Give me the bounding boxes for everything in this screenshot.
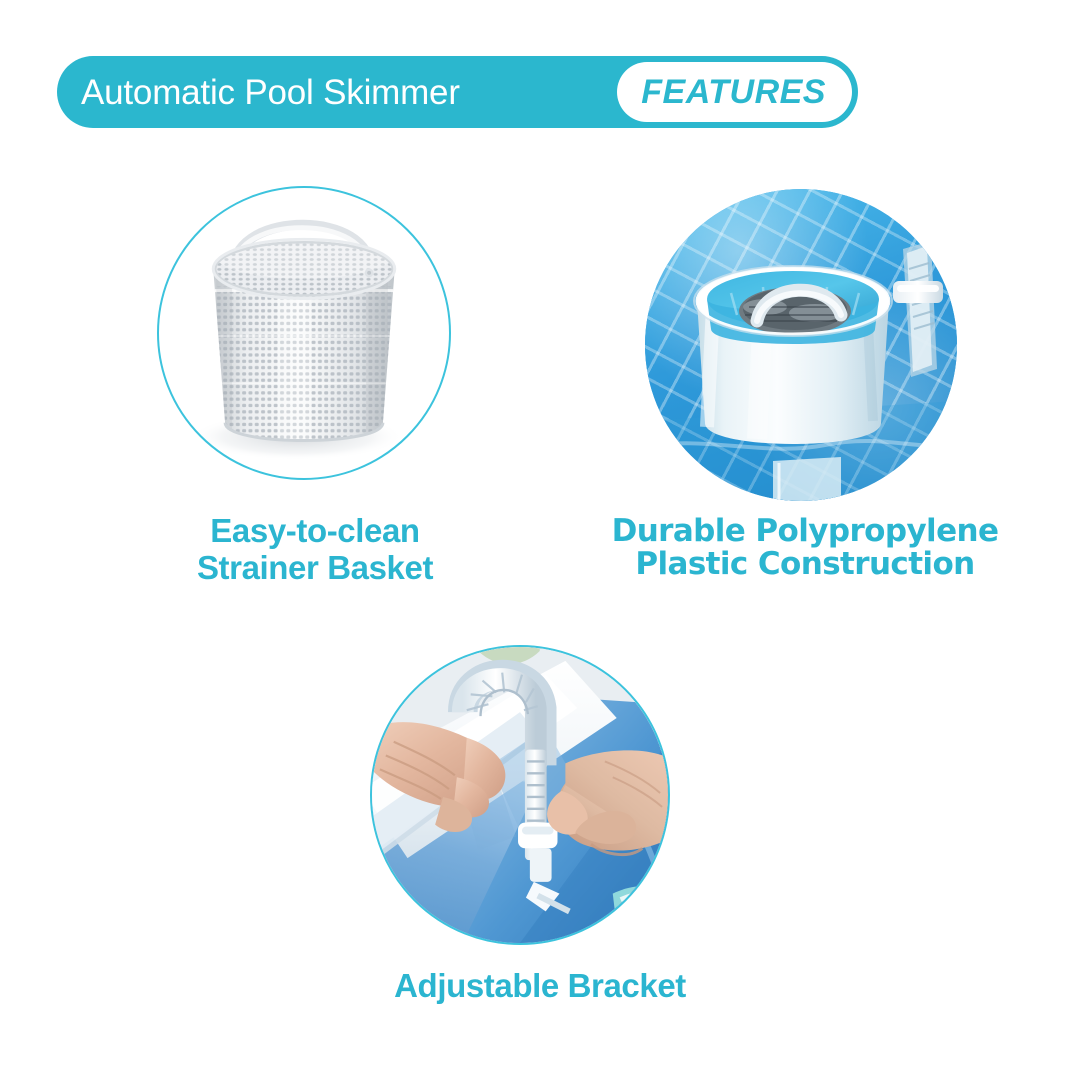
feature-image-polypropylene-construction: [645, 189, 957, 501]
feature-caption-adjustable-bracket: Adjustable Bracket: [320, 968, 760, 1005]
feature-image-adjustable-bracket: [370, 645, 670, 945]
feature-caption-polypropylene-construction: Durable Polypropylene Plastic Constructi…: [570, 515, 1040, 581]
skimmer-housing-illustration: [645, 189, 957, 501]
hands-adjusting-bracket-illustration: [372, 647, 668, 943]
header-banner: Automatic Pool Skimmer FEATURES: [57, 56, 858, 128]
feature-image-strainer-basket: [157, 186, 451, 480]
feature-infographic-page: Automatic Pool Skimmer FEATURES: [0, 0, 1080, 1080]
strainer-basket-illustration: [159, 188, 449, 478]
page-title: Automatic Pool Skimmer: [81, 75, 460, 110]
features-badge-label: FEATURES: [641, 75, 826, 109]
feature-caption-strainer-basket: Easy-to-clean Strainer Basket: [120, 513, 510, 587]
features-badge: FEATURES: [617, 62, 852, 122]
